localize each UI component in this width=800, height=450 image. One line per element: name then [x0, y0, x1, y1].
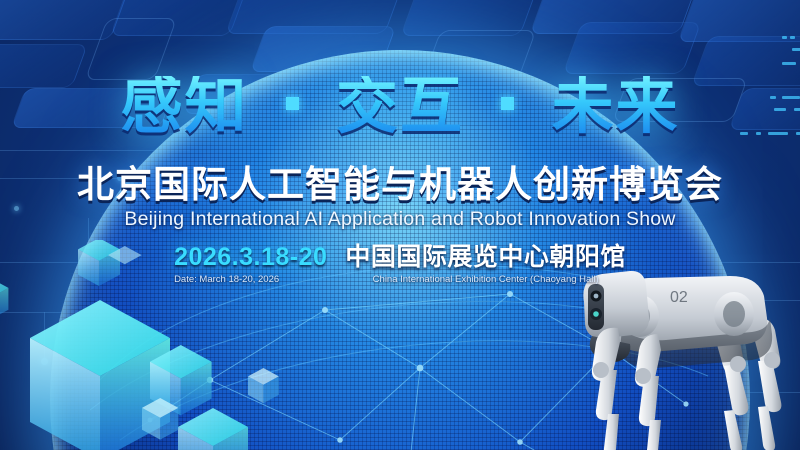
event-title-en: Beijing International AI Application and… — [0, 208, 800, 231]
headline-word-3: 未来 — [551, 76, 679, 138]
event-title-cn: 北京国际人工智能与机器人创新博览会 — [0, 164, 800, 205]
square-dot-separator-icon — [501, 97, 514, 110]
headline-word-1: 感知 — [121, 76, 249, 138]
banner-content: 感知 交互 未来 北京国际人工智能与机器人创新博览会 Beijing Inter… — [0, 0, 800, 450]
event-date-en: Date: March 18-20, 2026 — [174, 274, 279, 285]
headline-word-2: 交互 — [336, 76, 464, 138]
event-venue: 中国国际展览中心朝阳馆 — [345, 243, 626, 271]
square-dot-separator-icon — [286, 97, 299, 110]
event-venue-en: China International Exhibition Center (C… — [373, 274, 599, 285]
expo-banner: 02 感知 交互 未来 北京国际人工智能与机器人创新博览会 Beijing In… — [0, 0, 800, 450]
event-date-block: 2026.3.18-20 Date: March 18-20, 2026 — [174, 243, 327, 285]
event-info-bar: 2026.3.18-20 Date: March 18-20, 2026 中国国… — [0, 243, 800, 285]
event-date: 2026.3.18-20 — [174, 243, 327, 271]
headline: 感知 交互 未来 — [0, 76, 800, 138]
event-venue-block: 中国国际展览中心朝阳馆 China International Exhibiti… — [345, 243, 626, 285]
